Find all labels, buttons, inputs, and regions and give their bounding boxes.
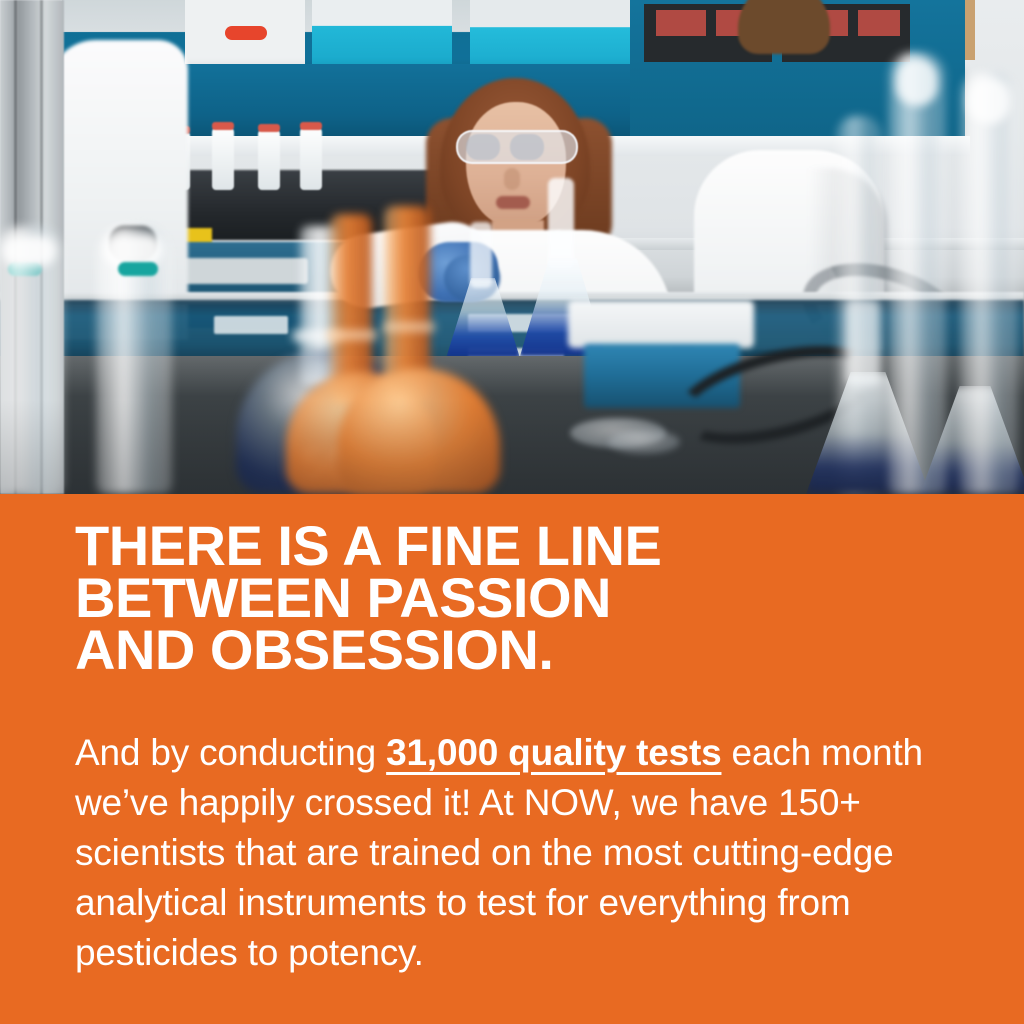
foreground-cylinder-right-2-cap	[968, 78, 1010, 124]
body-paragraph: And by conducting 31,000 quality tests e…	[75, 728, 955, 978]
headline-line-3: AND OBSESSION.	[75, 626, 975, 674]
shelf-box-red-mark	[225, 26, 267, 40]
headline-line-2: BETWEEN PASSION	[75, 574, 975, 622]
headline: THERE IS A FINE LINE BETWEEN PASSION AND…	[75, 522, 975, 674]
foreground-cylinder-1-cap	[2, 236, 56, 266]
safety-goggles	[456, 130, 578, 164]
sample-vial-4	[300, 128, 322, 190]
sample-vial-cap-3	[258, 124, 280, 132]
erlenmeyer-neck-center	[548, 178, 574, 270]
headline-line-1: THERE IS A FINE LINE	[75, 522, 975, 570]
foreground-cylinder-right-1-cap	[896, 58, 938, 106]
teal-cap-2	[118, 262, 158, 276]
white-balance-tray	[568, 300, 754, 348]
social-post-graphic: 500 THERE IS A FINE LINE BETWEEN PASSION…	[0, 0, 1024, 1024]
amber-flask-1-ring	[326, 330, 378, 340]
mouth	[496, 196, 530, 209]
amber-flask-2-ring	[382, 322, 436, 332]
sample-vial-cap-2	[212, 122, 234, 130]
body-text-before: And by conducting	[75, 732, 386, 773]
depth-of-field-haze	[0, 400, 1024, 494]
shelf-box-label	[185, 0, 305, 64]
orange-text-panel: THERE IS A FINE LINE BETWEEN PASSION AND…	[0, 494, 1024, 1024]
sample-vial-2	[212, 128, 234, 190]
counter-panel-3	[214, 316, 288, 334]
body-emphasis-stat: 31,000 quality tests	[386, 732, 721, 773]
sample-vial-3	[258, 130, 280, 190]
sample-vial-cap-4	[300, 122, 322, 130]
shelf-box-cyan	[312, 0, 452, 64]
nose	[504, 168, 520, 190]
shelf-box-cyan-2	[470, 0, 650, 64]
laboratory-photo: 500	[0, 0, 1024, 494]
